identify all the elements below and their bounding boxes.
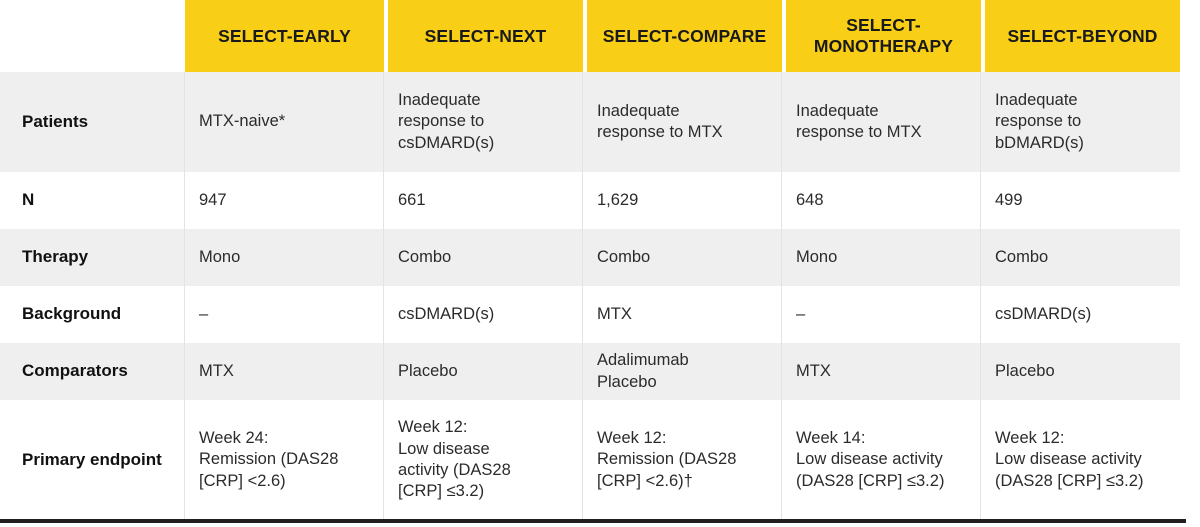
cell-text: Inadequate response to bDMARD(s) xyxy=(995,90,1166,154)
cell-comparators-select-next: Placebo xyxy=(384,343,583,400)
table-row-n: N 947 661 1,629 648 499 xyxy=(0,172,1180,229)
table-row-patients: Patients MTX-naive* Inadequate response … xyxy=(0,72,1180,172)
cell-text: Combo xyxy=(995,247,1166,268)
cell-primary-endpoint-select-monotherapy: Week 14: Low disease activity (DAS28 [CR… xyxy=(782,400,981,520)
cell-text: 947 xyxy=(199,190,369,211)
cell-text: Inadequate response to MTX xyxy=(796,101,966,144)
cell-background-select-early: – xyxy=(185,286,384,343)
cell-therapy-select-monotherapy: Mono xyxy=(782,229,981,286)
cell-text: 1,629 xyxy=(597,190,767,211)
row-label-therapy: Therapy xyxy=(0,229,185,286)
row-label-background: Background xyxy=(0,286,185,343)
cell-text: MTX xyxy=(597,304,767,325)
cell-patients-select-beyond: Inadequate response to bDMARD(s) xyxy=(981,72,1180,172)
column-header-select-next: SELECT-NEXT xyxy=(384,0,583,72)
cell-text: csDMARD(s) xyxy=(995,304,1166,325)
cell-comparators-select-beyond: Placebo xyxy=(981,343,1180,400)
row-label-primary-endpoint: Primary endpoint xyxy=(0,400,185,520)
cell-text: – xyxy=(199,304,369,325)
corner-blank-cell xyxy=(0,0,185,72)
cell-text: Week 12: Low disease activity (DAS28 [CR… xyxy=(995,428,1166,492)
cell-patients-select-early: MTX-naive* xyxy=(185,72,384,172)
cell-text: MTX xyxy=(199,361,369,382)
cell-text: Week 24: Remission (DAS28 [CRP] <2.6) xyxy=(199,428,369,492)
table-bottom-rule xyxy=(0,519,1186,523)
table-row-background: Background – csDMARD(s) MTX – csDMARD(s) xyxy=(0,286,1180,343)
cell-text: Inadequate response to csDMARD(s) xyxy=(398,90,568,154)
column-header-select-monotherapy: SELECT-MONOTHERAPY xyxy=(782,0,981,72)
cell-primary-endpoint-select-beyond: Week 12: Low disease activity (DAS28 [CR… xyxy=(981,400,1180,520)
cell-background-select-compare: MTX xyxy=(583,286,782,343)
cell-text: 499 xyxy=(995,190,1166,211)
cell-therapy-select-early: Mono xyxy=(185,229,384,286)
cell-comparators-select-compare: Adalimumab Placebo xyxy=(583,343,782,400)
cell-text: Placebo xyxy=(398,361,568,382)
cell-patients-select-monotherapy: Inadequate response to MTX xyxy=(782,72,981,172)
cell-text: MTX-naive* xyxy=(199,111,369,132)
study-comparison-table: SELECT-EARLY SELECT-NEXT SELECT-COMPARE … xyxy=(0,0,1180,520)
cell-text: Combo xyxy=(597,247,767,268)
cell-text: MTX xyxy=(796,361,966,382)
table-row-comparators: Comparators MTX Placebo Adalimumab Place… xyxy=(0,343,1180,400)
cell-background-select-next: csDMARD(s) xyxy=(384,286,583,343)
cell-comparators-select-monotherapy: MTX xyxy=(782,343,981,400)
cell-text: Mono xyxy=(199,247,369,268)
cell-text: Inadequate response to MTX xyxy=(597,101,767,144)
row-label-n: N xyxy=(0,172,185,229)
cell-n-select-monotherapy: 648 xyxy=(782,172,981,229)
cell-therapy-select-next: Combo xyxy=(384,229,583,286)
row-label-comparators: Comparators xyxy=(0,343,185,400)
table-header: SELECT-EARLY SELECT-NEXT SELECT-COMPARE … xyxy=(0,0,1180,72)
cell-text: 648 xyxy=(796,190,966,211)
cell-n-select-compare: 1,629 xyxy=(583,172,782,229)
cell-primary-endpoint-select-compare: Week 12: Remission (DAS28 [CRP] <2.6)† xyxy=(583,400,782,520)
header-row: SELECT-EARLY SELECT-NEXT SELECT-COMPARE … xyxy=(0,0,1180,72)
column-header-select-early: SELECT-EARLY xyxy=(185,0,384,72)
cell-background-select-beyond: csDMARD(s) xyxy=(981,286,1180,343)
cell-text: Mono xyxy=(796,247,966,268)
cell-text: Combo xyxy=(398,247,568,268)
table-row-therapy: Therapy Mono Combo Combo Mono Combo xyxy=(0,229,1180,286)
cell-n-select-early: 947 xyxy=(185,172,384,229)
study-comparison-table-container: SELECT-EARLY SELECT-NEXT SELECT-COMPARE … xyxy=(0,0,1200,527)
cell-n-select-beyond: 499 xyxy=(981,172,1180,229)
cell-text: Adalimumab Placebo xyxy=(597,350,767,393)
cell-primary-endpoint-select-early: Week 24: Remission (DAS28 [CRP] <2.6) xyxy=(185,400,384,520)
table-row-primary-endpoint: Primary endpoint Week 24: Remission (DAS… xyxy=(0,400,1180,520)
cell-therapy-select-beyond: Combo xyxy=(981,229,1180,286)
cell-patients-select-compare: Inadequate response to MTX xyxy=(583,72,782,172)
cell-text: – xyxy=(796,304,966,325)
cell-text: Week 12: Low disease activity (DAS28 [CR… xyxy=(398,417,568,503)
cell-text: Week 12: Remission (DAS28 [CRP] <2.6)† xyxy=(597,428,767,492)
cell-background-select-monotherapy: – xyxy=(782,286,981,343)
column-header-select-beyond: SELECT-BEYOND xyxy=(981,0,1180,72)
column-header-select-compare: SELECT-COMPARE xyxy=(583,0,782,72)
cell-primary-endpoint-select-next: Week 12: Low disease activity (DAS28 [CR… xyxy=(384,400,583,520)
cell-text: 661 xyxy=(398,190,568,211)
cell-text: csDMARD(s) xyxy=(398,304,568,325)
cell-comparators-select-early: MTX xyxy=(185,343,384,400)
cell-text: Placebo xyxy=(995,361,1166,382)
cell-patients-select-next: Inadequate response to csDMARD(s) xyxy=(384,72,583,172)
row-label-patients: Patients xyxy=(0,72,185,172)
cell-therapy-select-compare: Combo xyxy=(583,229,782,286)
cell-text: Week 14: Low disease activity (DAS28 [CR… xyxy=(796,428,966,492)
cell-n-select-next: 661 xyxy=(384,172,583,229)
table-body: Patients MTX-naive* Inadequate response … xyxy=(0,72,1180,520)
